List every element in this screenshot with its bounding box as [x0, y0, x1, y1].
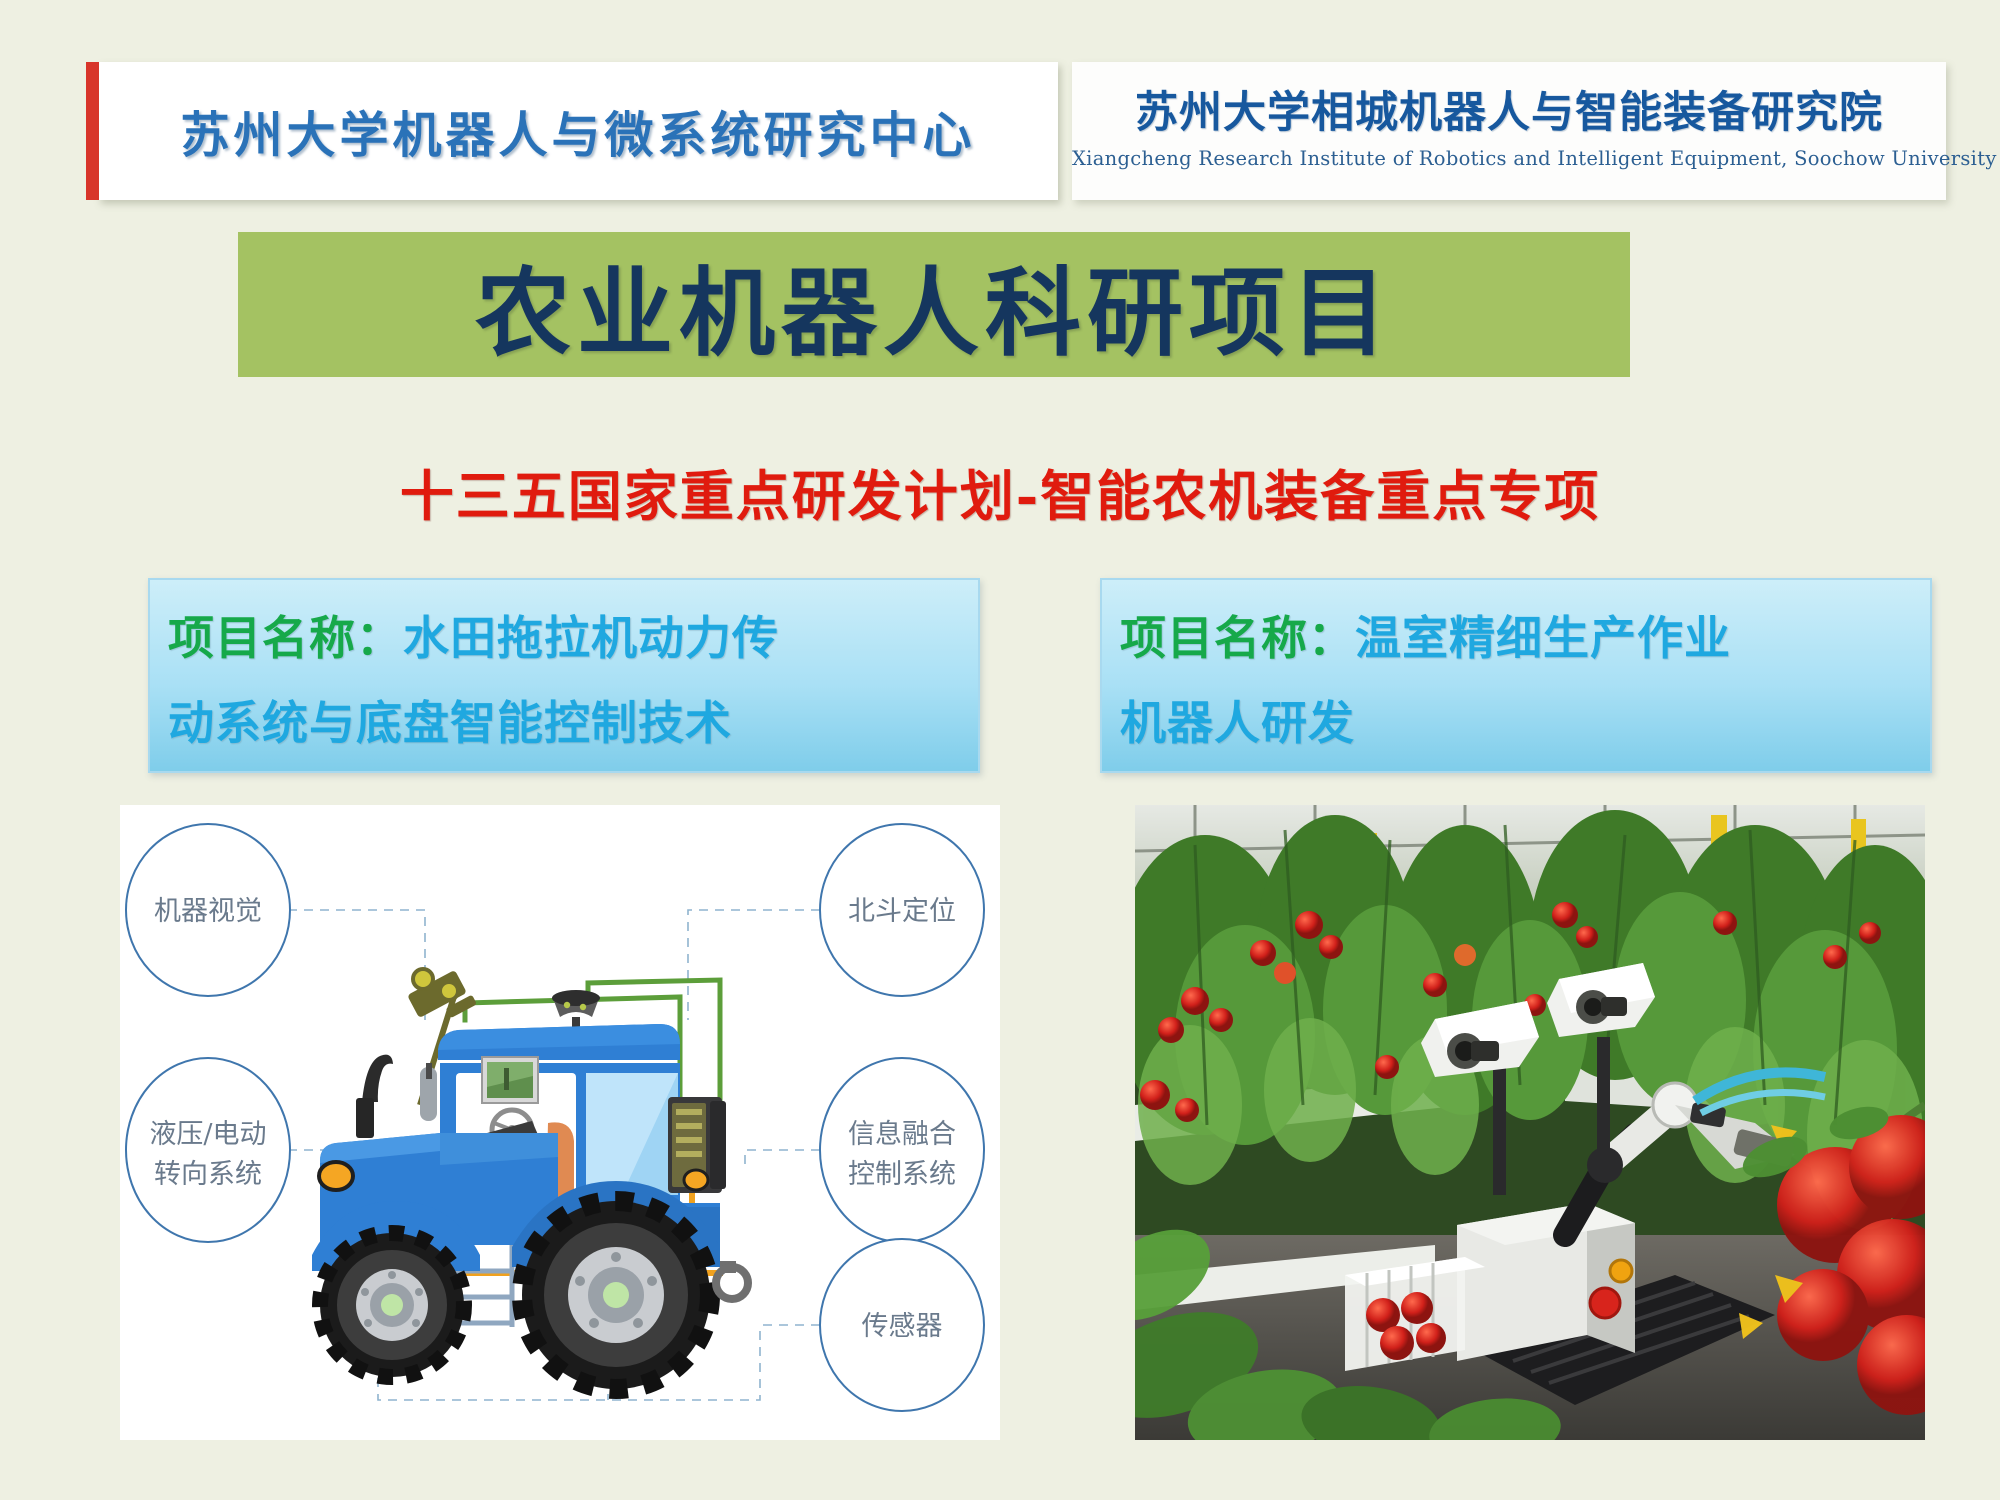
project-name-part-2: 动系统与底盘智能控制技术 [168, 696, 732, 750]
logo-right-title-en: Xiangcheng Research Institute of Robotic… [1072, 147, 1946, 170]
greenhouse-robot-photo [1135, 805, 1925, 1440]
indicator-knob[interactable] [1610, 1260, 1632, 1282]
project-card-greenhouse-robot: 项目名称：温室精细生产作业 机器人研发 [1100, 578, 1932, 773]
logo-left-title-cn: 苏州大学机器人与微系统研究中心 [98, 62, 1058, 200]
project-label: 项目名称： [1120, 611, 1355, 665]
project-name-part-1: 温室精细生产作业 [1355, 611, 1731, 665]
node-label: 北斗定位 [848, 896, 956, 927]
page-title: 农业机器人科研项目 [238, 235, 1630, 374]
diagram-node-info-fusion-control[interactable]: 信息融合 控制系统 [820, 1058, 984, 1242]
front-wheel [320, 1233, 464, 1377]
project-name-line-1: 项目名称：水田拖拉机动力传 [168, 596, 960, 681]
diagram-node-hydraulic-electric-steering[interactable]: 液压/电动 转向系统 [126, 1058, 290, 1242]
emergency-stop-button[interactable] [1590, 1288, 1620, 1318]
logo-xiangcheng-institute: 苏州大学相城机器人与智能装备研究院 Xiangcheng Research In… [1072, 62, 1946, 200]
project-name-line-2: 机器人研发 [1120, 681, 1912, 766]
node-label: 传感器 [862, 1311, 943, 1342]
logo-right-title-cn: 苏州大学相城机器人与智能装备研究院 [1072, 78, 1946, 140]
header-banner: 苏州大学机器人与微系统研究中心 苏州大学相城机器人与智能装备研究院 Xiangc… [0, 0, 2000, 180]
cab-display [482, 1057, 538, 1103]
node-label-line-1: 液压/电动 [149, 1119, 266, 1150]
diagram-node-sensors[interactable]: 传感器 [820, 1239, 984, 1411]
logo-robotics-microsystems-center: 苏州大学机器人与微系统研究中心 [98, 62, 1058, 200]
tractor-system-diagram: 机器视觉 北斗定位 液压/电动 转向系统 信息融合 控制系统 传感器 [120, 805, 1000, 1440]
node-label: 机器视觉 [154, 896, 262, 927]
page-title-bar: 农业机器人科研项目 [238, 232, 1630, 377]
project-name-part-2: 机器人研发 [1120, 696, 1355, 750]
program-subtitle: 十三五国家重点研发计划-智能农机装备重点专项 [0, 452, 2000, 531]
diagram-node-beidou-positioning[interactable]: 北斗定位 [820, 824, 984, 996]
node-label-line-2: 转向系统 [154, 1159, 262, 1190]
node-label-line-1: 信息融合 [848, 1119, 956, 1150]
node-label-line-2: 控制系统 [848, 1159, 956, 1190]
project-name-part-1: 水田拖拉机动力传 [403, 611, 779, 665]
tractor-illustration [312, 969, 748, 1389]
rear-wheel [522, 1201, 710, 1389]
project-label: 项目名称： [168, 611, 403, 665]
project-card-paddy-tractor: 项目名称：水田拖拉机动力传 动系统与底盘智能控制技术 [148, 578, 980, 773]
project-name-line-1: 项目名称：温室精细生产作业 [1120, 596, 1912, 681]
diagram-node-machine-vision[interactable]: 机器视觉 [126, 824, 290, 996]
project-name-line-2: 动系统与底盘智能控制技术 [168, 681, 960, 766]
